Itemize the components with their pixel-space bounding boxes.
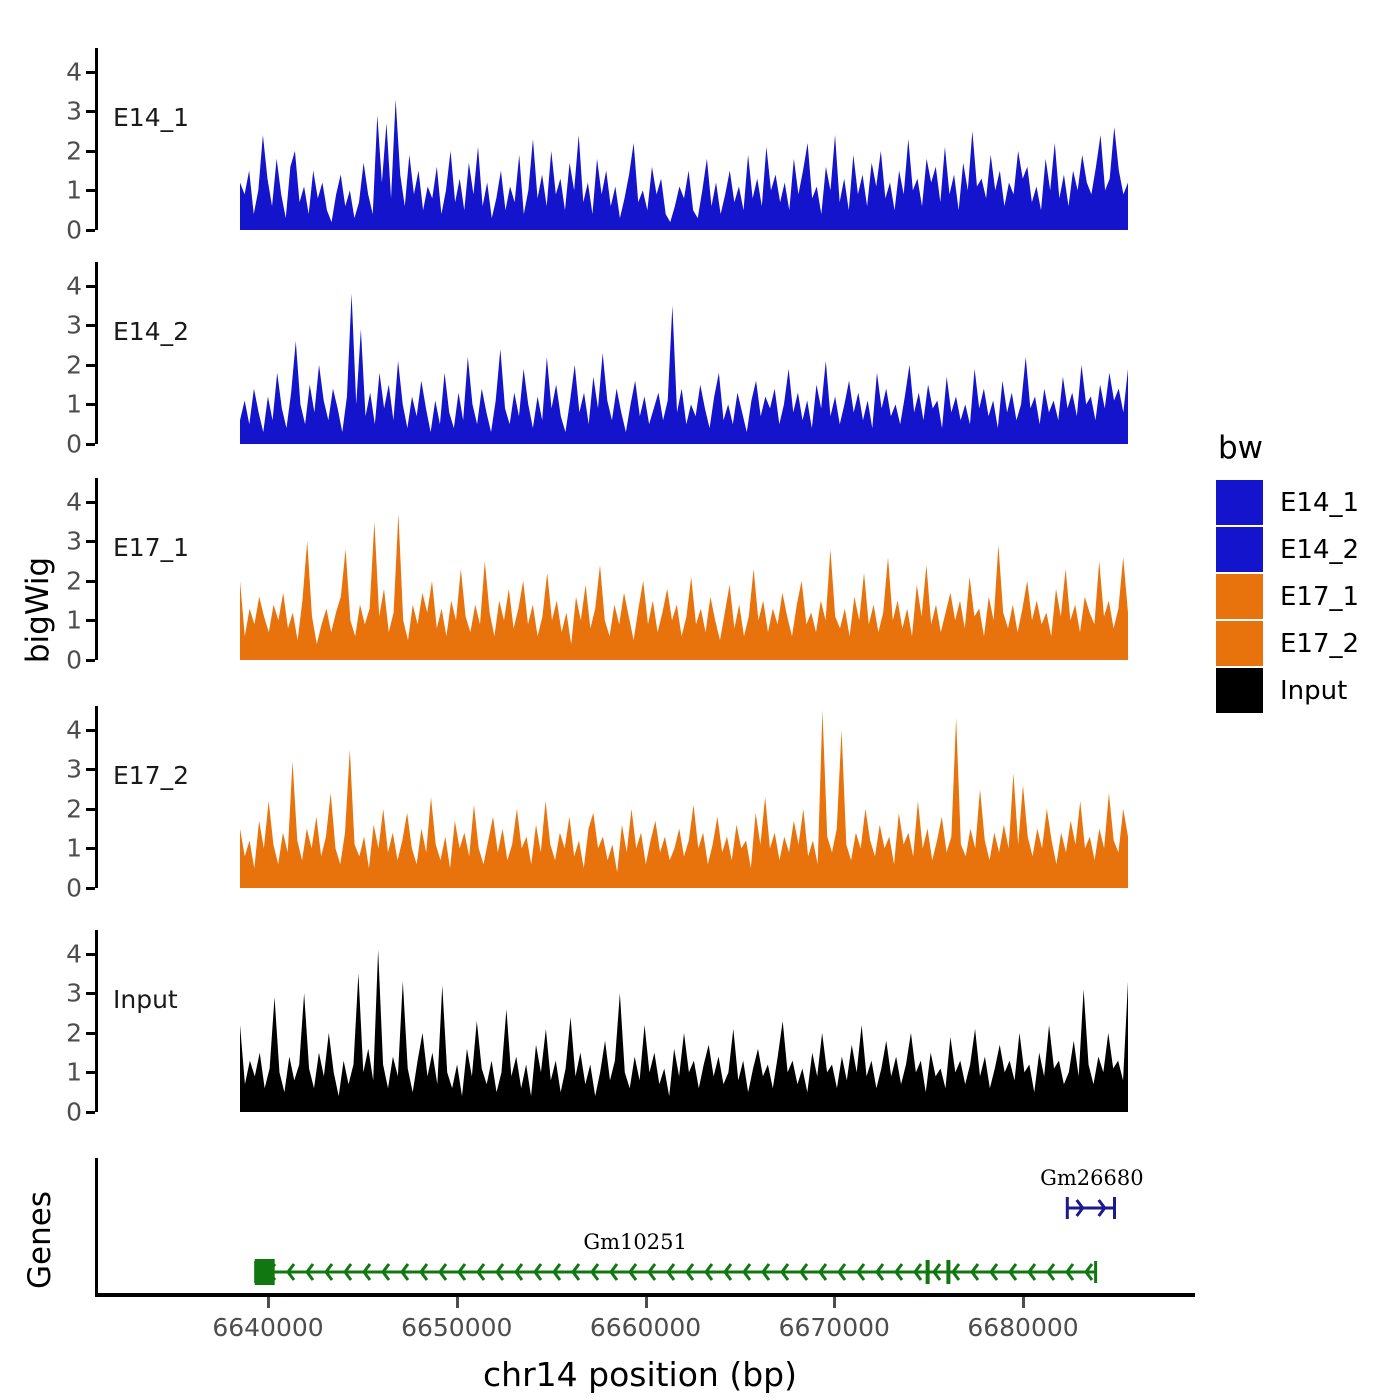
x-tick — [267, 1297, 270, 1308]
gene-label-gm10251: Gm10251 — [583, 1230, 687, 1254]
legend-swatch-input — [1216, 668, 1263, 713]
y-tick — [86, 1032, 95, 1035]
signal-panel-e17_2: 01234E17_2 — [95, 706, 1195, 888]
x-tick — [1022, 1297, 1025, 1308]
y-tick-label: 4 — [66, 939, 82, 968]
y-tick — [86, 808, 95, 811]
genes-track-svg — [95, 1158, 1195, 1293]
y-axis-title-bigwig: bigWig — [20, 520, 56, 700]
signal-area-e14_2 — [98, 262, 1198, 444]
signal-area-input — [98, 930, 1198, 1112]
y-tick-label: 0 — [66, 646, 82, 675]
y-tick — [86, 403, 95, 406]
y-tick — [86, 443, 95, 446]
signal-panel-input: 01234Input — [95, 930, 1195, 1112]
x-tick-label: 6660000 — [590, 1313, 701, 1342]
y-tick-label: 0 — [66, 430, 82, 459]
y-tick-label: 2 — [66, 1018, 82, 1047]
y-tick — [86, 953, 95, 956]
y-tick-label: 3 — [66, 755, 82, 784]
y-tick-label: 2 — [66, 566, 82, 595]
genes-axis-line — [95, 1158, 98, 1293]
legend-swatch-e17_1 — [1216, 574, 1263, 619]
y-tick — [86, 1111, 95, 1114]
y-tick — [86, 364, 95, 367]
legend-label: E14_1 — [1280, 488, 1359, 518]
y-tick-label: 1 — [66, 834, 82, 863]
legend-items: E14_1E14_2E17_1E17_2Input — [1216, 479, 1391, 714]
y-tick-label: 4 — [66, 487, 82, 516]
y-tick — [86, 150, 95, 153]
gene-exon-block — [255, 1259, 275, 1285]
signal-area-e17_2 — [98, 706, 1198, 888]
y-tick — [86, 729, 95, 732]
legend: bw E14_1E14_2E17_1E17_2Input — [1216, 430, 1391, 714]
y-tick — [86, 847, 95, 850]
legend-label: Input — [1280, 676, 1347, 706]
y-tick-label: 2 — [66, 350, 82, 379]
x-tick-label: 6680000 — [967, 1313, 1078, 1342]
y-tick-label: 1 — [66, 606, 82, 635]
legend-title: bw — [1218, 430, 1391, 466]
y-axis-title-genes: Genes — [22, 1170, 58, 1310]
signal-panel-e14_1: 01234E14_1 — [95, 48, 1195, 230]
y-tick-label: 1 — [66, 176, 82, 205]
y-tick — [86, 619, 95, 622]
y-tick-label: 4 — [66, 271, 82, 300]
y-tick — [86, 189, 95, 192]
y-tick-label: 2 — [66, 794, 82, 823]
y-tick — [86, 501, 95, 504]
legend-swatch-e17_2 — [1216, 621, 1263, 666]
legend-swatch-e14_1 — [1216, 480, 1263, 525]
y-tick — [86, 1071, 95, 1074]
signal-panel-e14_2: 01234E14_2 — [95, 262, 1195, 444]
y-tick — [86, 324, 95, 327]
y-tick — [86, 580, 95, 583]
y-tick — [86, 659, 95, 662]
y-tick — [86, 992, 95, 995]
y-tick-label: 3 — [66, 311, 82, 340]
y-tick-label: 3 — [66, 527, 82, 556]
y-tick — [86, 110, 95, 113]
legend-item-e14_1[interactable]: E14_1 — [1216, 479, 1391, 526]
legend-item-e17_1[interactable]: E17_1 — [1216, 573, 1391, 620]
y-tick-label: 3 — [66, 979, 82, 1008]
x-tick — [456, 1297, 459, 1308]
legend-label: E14_2 — [1280, 535, 1359, 565]
x-tick — [645, 1297, 648, 1308]
gene-label-gm26680: Gm26680 — [1040, 1166, 1144, 1190]
signal-area-e17_1 — [98, 478, 1198, 660]
x-axis-title: chr14 position (bp) — [0, 1355, 1280, 1394]
y-tick-label: 1 — [66, 390, 82, 419]
signal-panel-e17_1: 01234E17_1 — [95, 478, 1195, 660]
legend-item-e14_2[interactable]: E14_2 — [1216, 526, 1391, 573]
genome-browser-figure: bigWig Genes 01234E14_101234E14_201234E1… — [0, 0, 1400, 1400]
genes-track-panel: Gm10251Gm26680 — [95, 1158, 1195, 1293]
y-tick-label: 4 — [66, 715, 82, 744]
y-tick — [86, 768, 95, 771]
legend-label: E17_2 — [1280, 629, 1359, 659]
y-tick-label: 4 — [66, 57, 82, 86]
y-tick-label: 0 — [66, 1098, 82, 1127]
y-tick-label: 1 — [66, 1058, 82, 1087]
y-tick — [86, 229, 95, 232]
y-tick — [86, 285, 95, 288]
x-tick-label: 6650000 — [401, 1313, 512, 1342]
legend-label: E17_1 — [1280, 582, 1359, 612]
x-tick-label: 6640000 — [212, 1313, 323, 1342]
legend-item-input[interactable]: Input — [1216, 667, 1391, 714]
y-tick — [86, 540, 95, 543]
y-tick — [86, 887, 95, 890]
x-tick — [833, 1297, 836, 1308]
signal-area-e14_1 — [98, 48, 1198, 230]
y-tick — [86, 71, 95, 74]
legend-swatch-e14_2 — [1216, 527, 1263, 572]
x-tick-label: 6670000 — [779, 1313, 890, 1342]
legend-item-e17_2[interactable]: E17_2 — [1216, 620, 1391, 667]
y-tick-label: 0 — [66, 874, 82, 903]
y-tick-label: 2 — [66, 136, 82, 165]
y-tick-label: 0 — [66, 216, 82, 245]
y-tick-label: 3 — [66, 97, 82, 126]
